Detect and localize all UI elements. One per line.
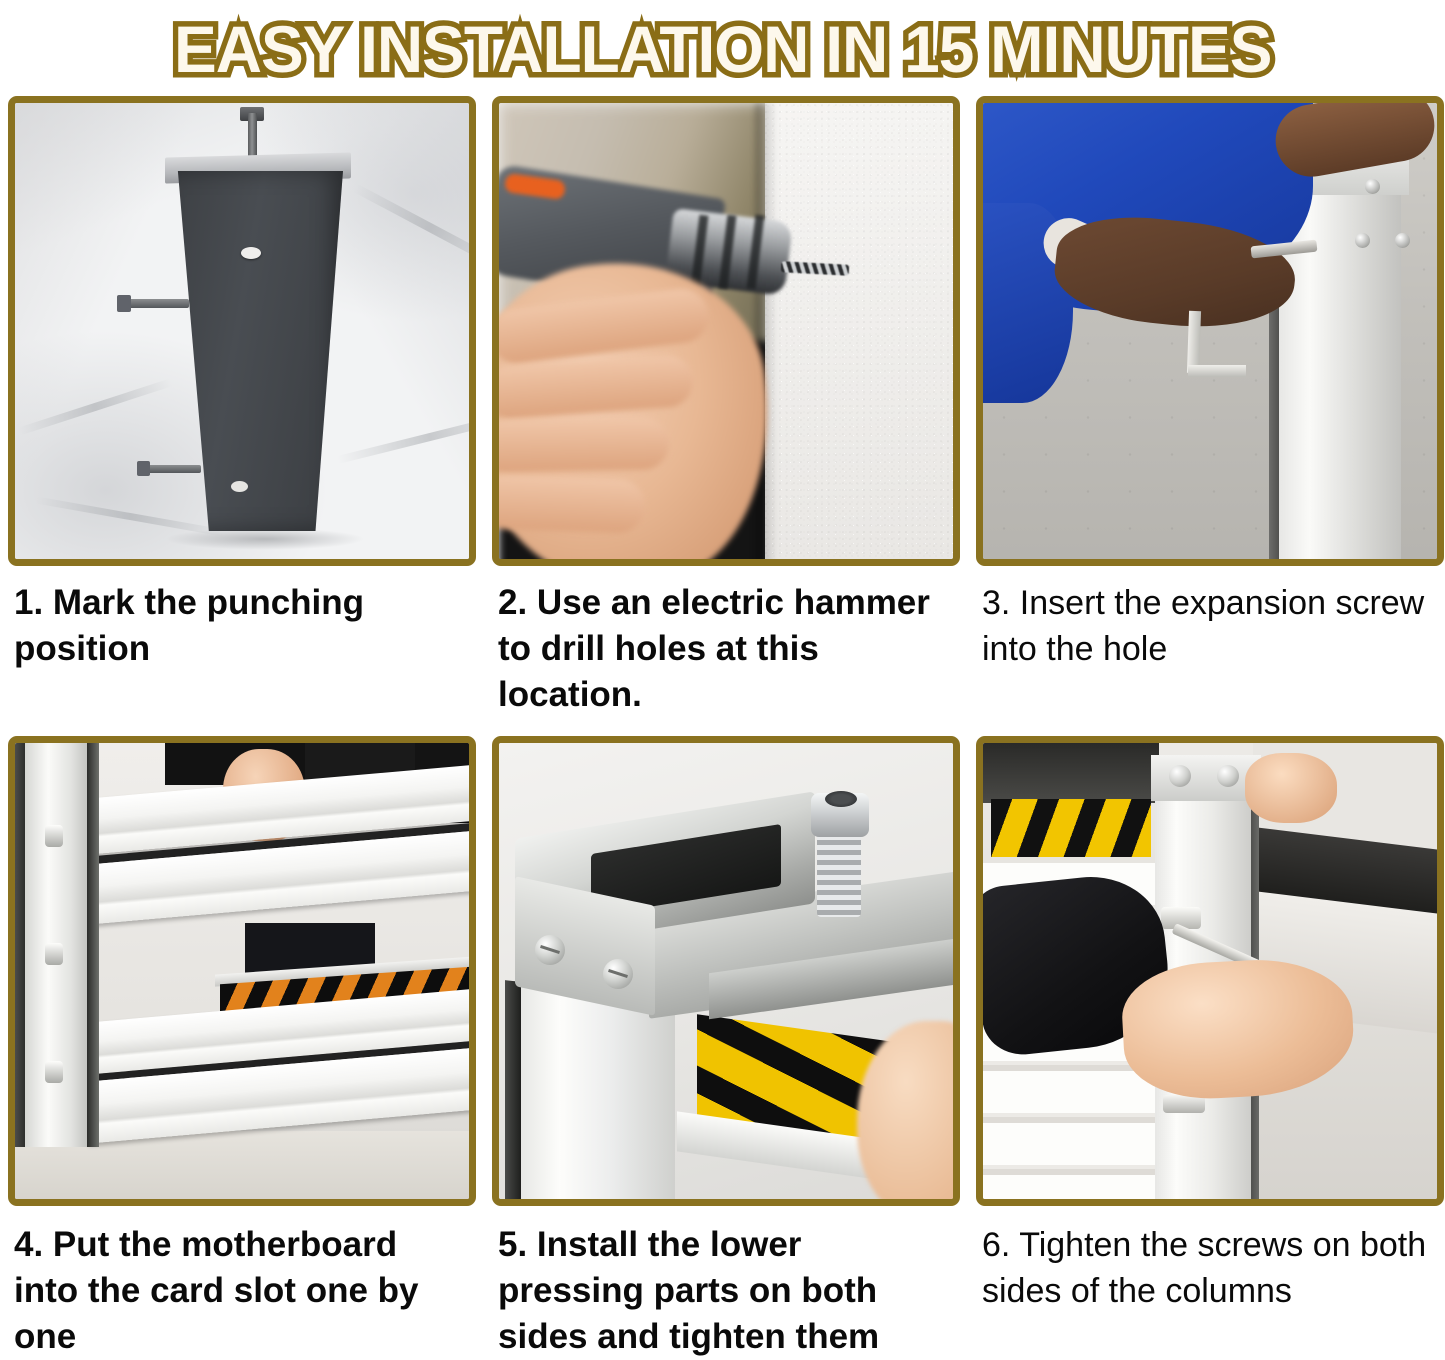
steps-grid-row2-photos [0, 736, 1445, 1206]
step-2-photo-frame[interactable] [492, 96, 960, 566]
step-1-photo-cell [8, 96, 476, 566]
photo-tighten-screws [983, 743, 1437, 1199]
header-banner: EASY INSTALLATION IN 15 MINUTES [0, 0, 1445, 96]
step-1-caption: 1. Mark the punching position [8, 566, 476, 718]
step-4-caption: 4. Put the motherboard into the card slo… [8, 1206, 476, 1360]
step-6-photo-cell [976, 736, 1444, 1206]
photo-card-slot [15, 743, 469, 1199]
step-3-photo-cell [976, 96, 1444, 566]
step-6-caption: 6. Tighten the screws on both sides of t… [976, 1206, 1444, 1360]
photo-pressing-part [499, 743, 953, 1199]
step-3-caption: 3. Insert the expansion screw into the h… [976, 566, 1444, 718]
photo-expansion-screw [983, 103, 1437, 559]
steps-grid-row2-captions: 4. Put the motherboard into the card slo… [0, 1206, 1445, 1360]
step-2-photo-cell [492, 96, 960, 566]
steps-grid-row1-captions: 1. Mark the punching position 2. Use an … [0, 566, 1445, 718]
step-1-photo-frame[interactable] [8, 96, 476, 566]
row-spacer [0, 718, 1445, 736]
step-5-caption: 5. Install the lower pressing parts on b… [492, 1206, 960, 1360]
step-3-photo-frame[interactable] [976, 96, 1444, 566]
step-5-photo-cell [492, 736, 960, 1206]
step-4-photo-cell [8, 736, 476, 1206]
photo-base-plate [15, 103, 469, 559]
photo-drilling-wall [499, 103, 953, 559]
step-6-photo-frame[interactable] [976, 736, 1444, 1206]
step-4-photo-frame[interactable] [8, 736, 476, 1206]
page-title: EASY INSTALLATION IN 15 MINUTES [174, 16, 1272, 82]
steps-grid-row1-photos [0, 96, 1445, 566]
step-5-photo-frame[interactable] [492, 736, 960, 1206]
step-2-caption: 2. Use an electric hammer to drill holes… [492, 566, 960, 718]
